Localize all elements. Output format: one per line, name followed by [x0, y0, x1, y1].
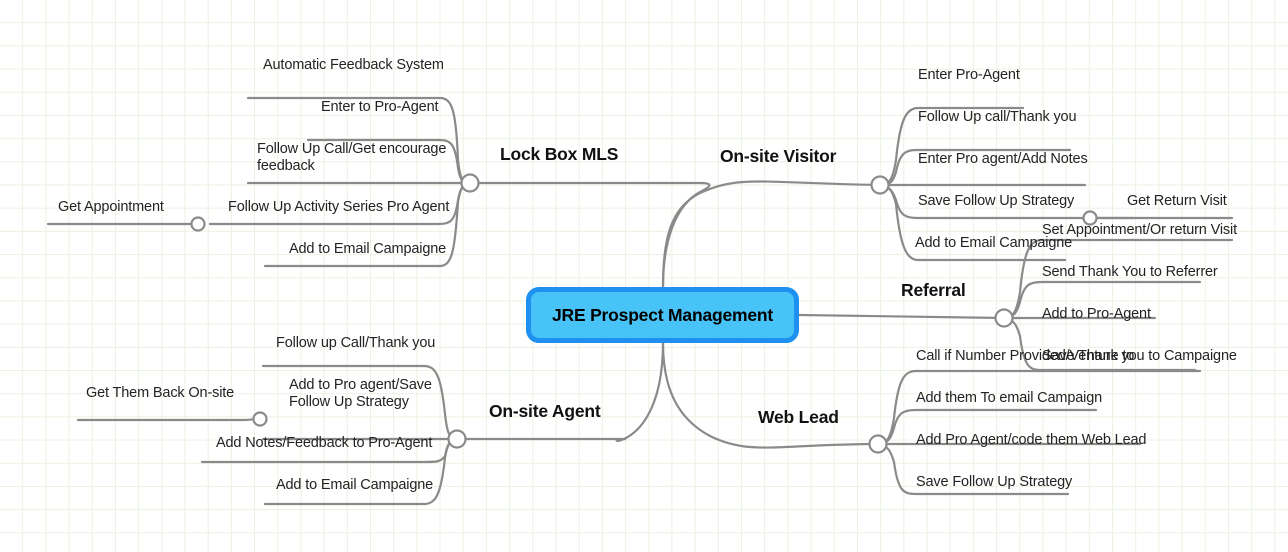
- leaf-enter-to-pro-agent[interactable]: Enter to Pro-Agent: [321, 99, 438, 116]
- leaf-follow-up-call-get-encourage[interactable]: Follow Up Call/Get encourage: [257, 141, 446, 158]
- leaf-follow-up-activity-series-pro-agent[interactable]: Follow Up Activity Series Pro Agent: [228, 199, 449, 216]
- leaf-add-to-email-campaigne-lockbox[interactable]: Add to Email Campaigne: [289, 241, 446, 258]
- center-node-label: JRE Prospect Management: [552, 305, 773, 326]
- node-lock-box-mls: [462, 175, 479, 192]
- leaf-add-to-pro-agent-save-line2[interactable]: Follow Up Strategy: [289, 394, 409, 411]
- node-get-appointment: [192, 218, 205, 231]
- node-referral: [996, 310, 1013, 327]
- edge-center-onsitevisitor: [663, 182, 880, 288]
- leaf-get-return-visit[interactable]: Get Return Visit: [1127, 193, 1227, 210]
- leaf-add-pro-agent-code-them-web-lead[interactable]: Add Pro Agent/code them Web Lead: [916, 432, 1146, 449]
- leaf-follow-up-call-thank-you-agent[interactable]: Follow up Call/Thank you: [276, 335, 435, 352]
- leaf-follow-up-call-get-encourage-line2[interactable]: feedback: [257, 158, 315, 175]
- leaf-enter-pro-agent[interactable]: Enter Pro-Agent: [918, 67, 1020, 84]
- leaf-save-follow-up-strategy-weblead[interactable]: Save Follow Up Strategy: [916, 474, 1072, 491]
- node-get-them-back-on-site: [254, 413, 267, 426]
- branch-label-on-site-visitor[interactable]: On-site Visitor: [720, 148, 836, 165]
- edge-center-weblead: [663, 343, 878, 448]
- leaf-set-appointment-or-return-visit[interactable]: Set Appointment/Or return Visit: [1042, 222, 1237, 239]
- edge-agent-c2-sub1: [78, 419, 260, 420]
- leaf-add-to-email-campaigne-agent[interactable]: Add to Email Campaigne: [276, 477, 433, 494]
- leaf-get-appointment[interactable]: Get Appointment: [58, 199, 164, 216]
- branch-label-lock-box-mls[interactable]: Lock Box MLS: [500, 146, 618, 163]
- mindmap-canvas[interactable]: JRE Prospect Management Lock Box MLS On-…: [0, 0, 1288, 552]
- branch-label-web-lead[interactable]: Web Lead: [758, 409, 839, 426]
- node-web-lead: [870, 436, 887, 453]
- leaf-send-thank-you-to-referrer[interactable]: Send Thank You to Referrer: [1042, 264, 1218, 281]
- leaf-save-follow-up-strategy-visitor[interactable]: Save Follow Up Strategy: [918, 193, 1074, 210]
- edge-center-onsiteagent: [457, 343, 663, 441]
- leaf-call-if-number-provided[interactable]: Call if Number Provided/Venture to: [916, 348, 1134, 365]
- branch-label-on-site-agent[interactable]: On-site Agent: [489, 403, 600, 420]
- leaf-add-to-pro-agent-save[interactable]: Add to Pro agent/Save: [289, 377, 432, 394]
- edge-center-referral: [799, 315, 1004, 318]
- leaf-follow-up-call-thank-you-visitor[interactable]: Follow Up call/Thank you: [918, 109, 1076, 126]
- leaf-add-them-to-email-campaign[interactable]: Add them To email Campaign: [916, 390, 1102, 407]
- leaf-automatic-feedback-system[interactable]: Automatic Feedback System: [263, 57, 444, 74]
- branch-label-referral[interactable]: Referral: [901, 282, 966, 299]
- node-on-site-agent: [449, 431, 466, 448]
- leaf-add-to-pro-agent[interactable]: Add to Pro-Agent: [1042, 306, 1151, 323]
- edge-center-lockbox: [470, 183, 709, 287]
- leaf-get-them-back-on-site[interactable]: Get Them Back On-site: [86, 385, 234, 402]
- leaf-add-notes-feedback-to-pro-agent[interactable]: Add Notes/Feedback to Pro-Agent: [216, 435, 432, 452]
- node-on-site-visitor: [872, 177, 889, 194]
- center-node[interactable]: JRE Prospect Management: [526, 287, 799, 343]
- leaf-enter-pro-agent-add-notes[interactable]: Enter Pro agent/Add Notes: [918, 151, 1088, 168]
